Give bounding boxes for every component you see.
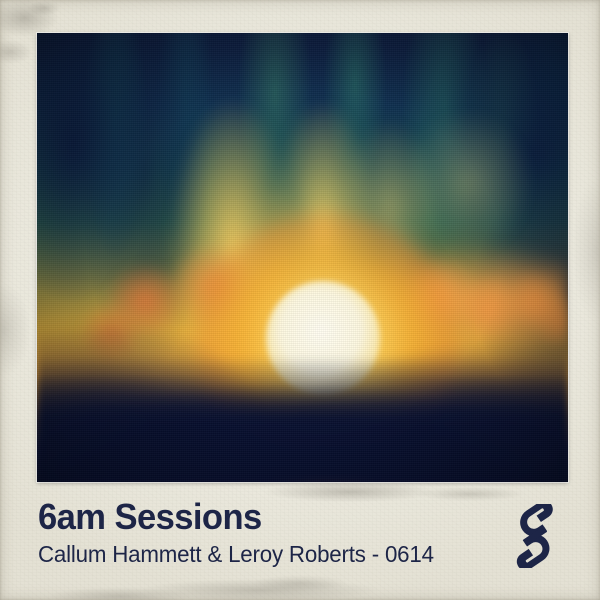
cover-photo — [37, 33, 568, 482]
foreground-silhouette — [37, 33, 568, 482]
album-cover: 6am Sessions Callum Hammett & Leroy Robe… — [0, 0, 600, 600]
album-title: 6am Sessions — [38, 498, 476, 537]
caption-block: 6am Sessions Callum Hammett & Leroy Robe… — [38, 498, 494, 567]
album-subtitle: Callum Hammett & Leroy Roberts - 0614 — [38, 541, 480, 567]
chain-link-logo — [503, 504, 565, 568]
